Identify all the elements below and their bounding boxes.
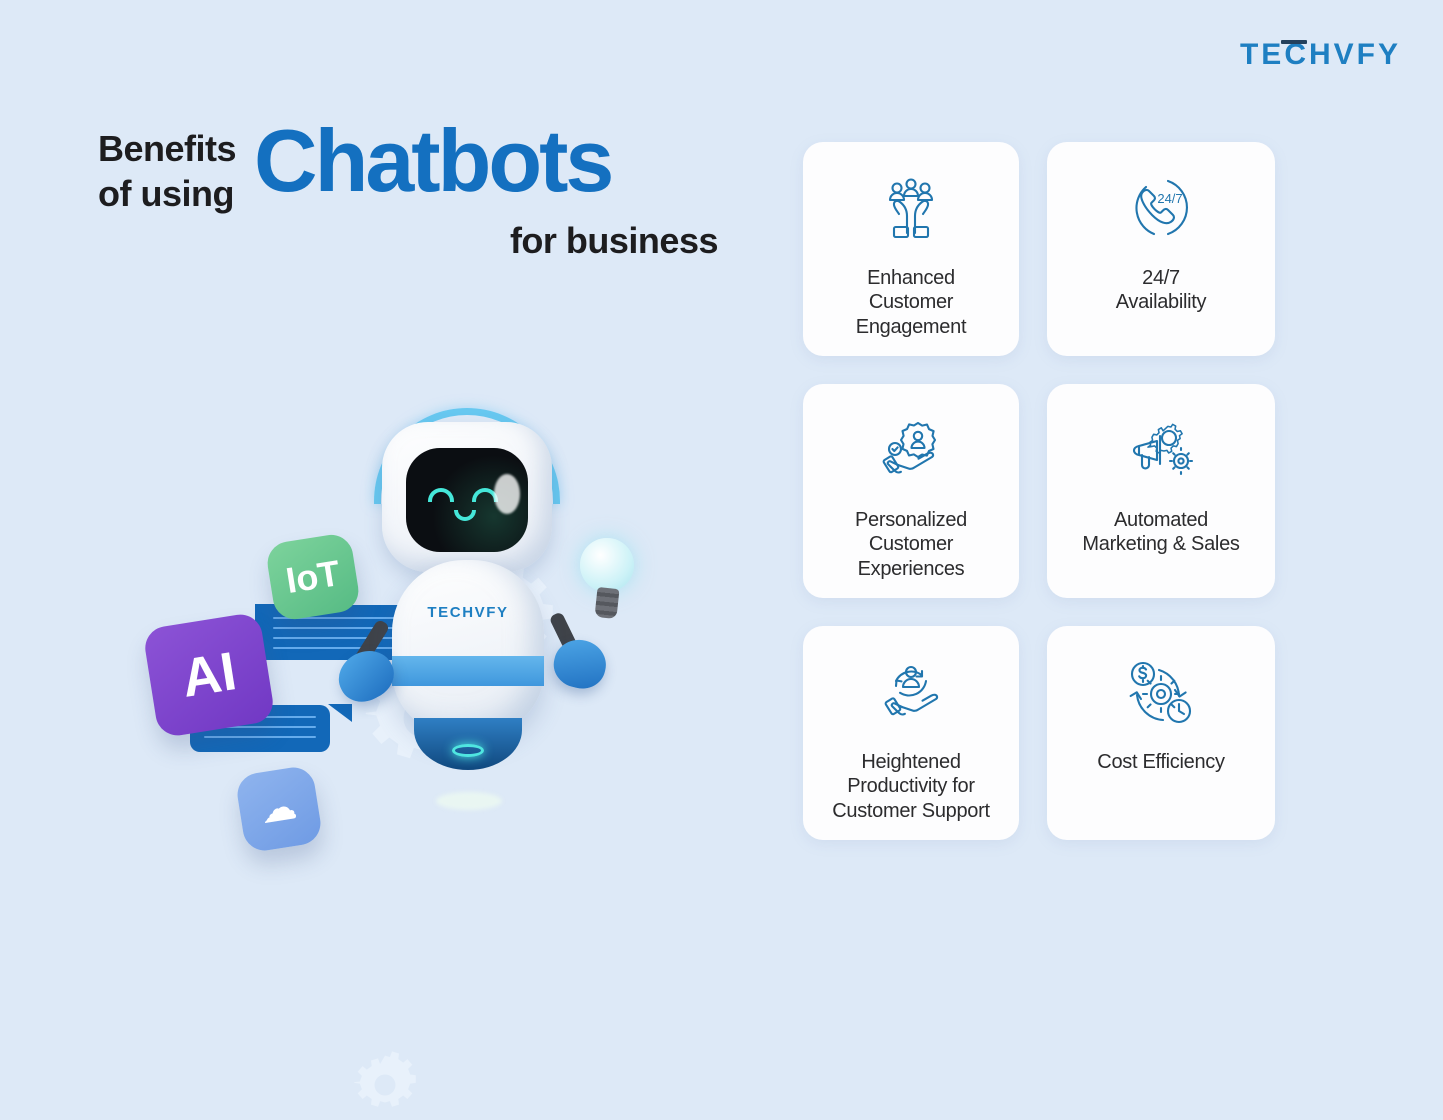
hand-holding-verified-user-icon (874, 410, 948, 494)
benefit-card-label: 24/7 Availability (1116, 266, 1207, 315)
robot-smile (454, 510, 476, 521)
benefit-card-personalized-customer-experiences[interactable]: Personalized Customer Experiences (803, 384, 1019, 598)
svg-text:24/7: 24/7 (1157, 191, 1182, 206)
robot-mascot: TECHVFY (340, 400, 600, 830)
robot-eye-left (428, 488, 454, 502)
gear-icon (350, 1050, 420, 1120)
lightbulb-base (594, 587, 619, 619)
robot-thruster-ring (452, 744, 484, 757)
robot-base (414, 718, 522, 770)
headline-emphasis: Chatbots (254, 118, 611, 204)
headline-block: Benefits of using Chatbots for business (98, 118, 758, 262)
megaphone-gears-icon (1124, 410, 1198, 494)
phone-24-7-icon: 24/7 (1124, 168, 1198, 252)
benefit-card-cost-efficiency[interactable]: Cost Efficiency (1047, 626, 1275, 840)
benefit-card-heightened-productivity[interactable]: Heightened Productivity for Customer Sup… (803, 626, 1019, 840)
headline-line1: Benefits (98, 126, 236, 171)
benefit-card-label: Automated Marketing & Sales (1082, 508, 1239, 557)
headline-small: Benefits of using (98, 118, 236, 216)
tile-cloud: ☁ (234, 764, 323, 853)
headline-line2: of using (98, 171, 236, 216)
robot-shadow (436, 792, 502, 810)
benefit-card-enhanced-customer-engagement[interactable]: Enhanced Customer Engagement (803, 142, 1019, 356)
robot-body: TECHVFY (392, 560, 544, 735)
benefit-card-label: Personalized Customer Experiences (855, 508, 967, 581)
benefit-card-label: Enhanced Customer Engagement (856, 266, 966, 339)
robot-chest-logo: TECHVFY (392, 604, 544, 621)
lightbulb-icon (580, 538, 634, 592)
screen-glare (494, 474, 520, 514)
brand-logo-text: TECHVFY (1240, 38, 1401, 72)
benefit-card-label: Cost Efficiency (1097, 750, 1224, 774)
robot-illustration: IoT AI ☁ TECHVFY (110, 280, 730, 880)
logo-accent-bar (1281, 40, 1307, 44)
robot-body-stripe (392, 656, 544, 686)
benefit-card-label: Heightened Productivity for Customer Sup… (832, 750, 990, 823)
headline-subtitle: for business (98, 220, 718, 262)
benefit-card-24-7-availability[interactable]: 24/7 24/7 Availability (1047, 142, 1275, 356)
dollar-gear-clock-cycle-icon (1124, 652, 1198, 736)
robot-claw-right (549, 634, 611, 693)
benefits-grid: Enhanced Customer Engagement 24/7 24/7 A… (803, 142, 1263, 840)
tile-ai: AI (142, 611, 276, 738)
hands-holding-people-icon (874, 168, 948, 252)
benefit-card-automated-marketing-sales[interactable]: Automated Marketing & Sales (1047, 384, 1275, 598)
hand-user-refresh-icon (874, 652, 948, 736)
robot-head (382, 422, 552, 572)
robot-face-screen (406, 448, 528, 552)
brand-logo: TECHVFY (1240, 38, 1401, 72)
